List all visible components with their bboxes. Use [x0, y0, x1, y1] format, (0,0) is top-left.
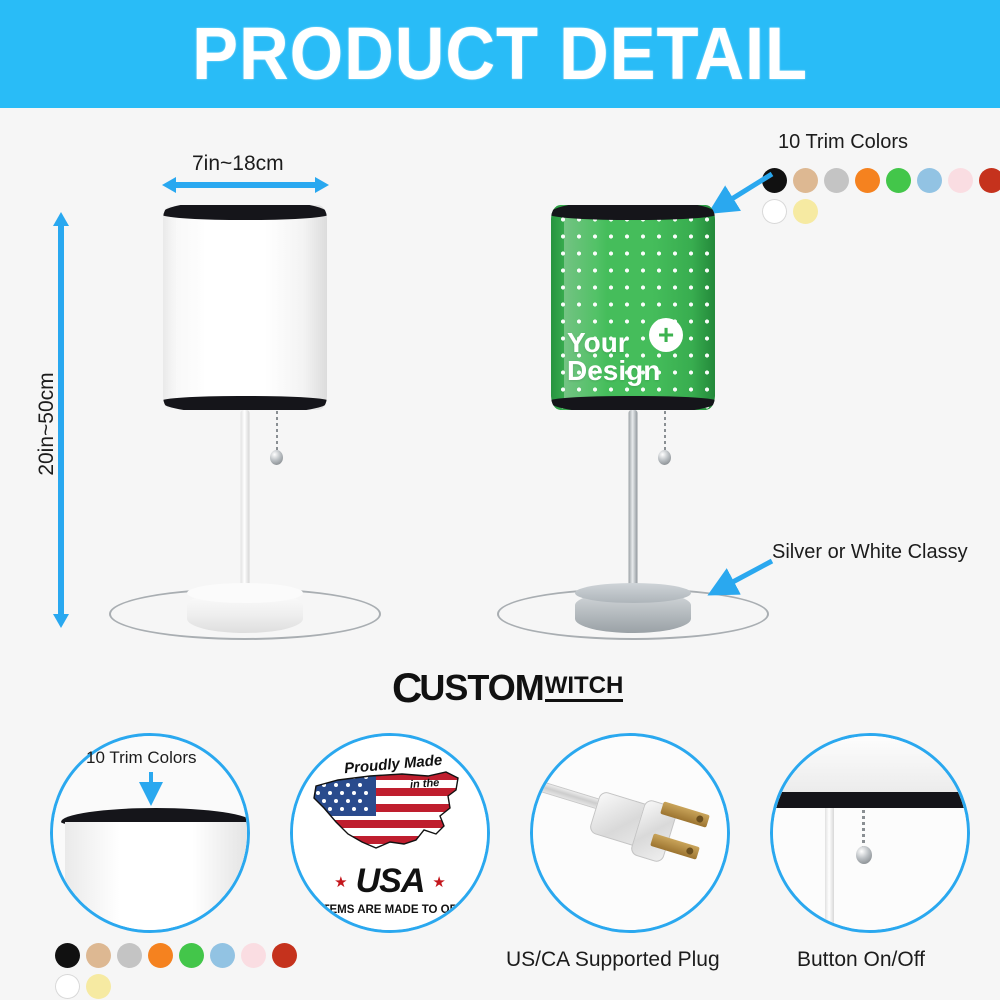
trim-swatch-white[interactable] [55, 974, 80, 999]
prong-hole [695, 815, 704, 824]
trim-ring-closeup [773, 792, 967, 808]
trim-swatch-red[interactable] [979, 168, 1000, 193]
pull-chain-bead[interactable] [658, 450, 671, 465]
width-dimension-label: 7in~18cm [192, 152, 284, 176]
add-design-plus-icon[interactable]: + [649, 318, 683, 352]
logo-c-mark: C [392, 667, 419, 709]
trim-swatch-pink[interactable] [241, 943, 266, 968]
brand-logo: C USTOM WITCH [392, 667, 623, 709]
product-detail-infographic: PRODUCT DETAIL 10 Trim Colors 7in~18cm 2… [0, 0, 1000, 1000]
trim-color-swatches-bottom[interactable] [55, 943, 313, 999]
lamp-base-top [575, 583, 691, 603]
usa-line-2: in the [409, 777, 439, 791]
page-title: PRODUCT DETAIL [192, 17, 808, 91]
trim-swatch-light-blue[interactable] [917, 168, 942, 193]
feature-made-in-usa-circle: Proudly Made in the ★ USA ★ ALL ITEMS AR… [290, 733, 490, 933]
logo-custom-text: USTOM [419, 670, 543, 706]
trim-swatch-yellow[interactable] [793, 199, 818, 224]
prong-hole [685, 847, 694, 856]
lamp-stem-closeup [825, 808, 834, 930]
trim-swatch-pink[interactable] [948, 168, 973, 193]
usa-badge: Proudly Made in the ★ USA ★ ALL ITEMS AR… [293, 736, 487, 930]
trim-swatch-tan[interactable] [86, 943, 111, 968]
trim-swatch-green[interactable] [179, 943, 204, 968]
trim-ring-bottom [163, 396, 327, 410]
trim-color-swatches-top[interactable] [762, 168, 1000, 224]
pull-chain[interactable] [276, 411, 278, 453]
design-line-2: Design [567, 357, 660, 386]
feature-switch-circle [770, 733, 970, 933]
star-right-icon: ★ [432, 873, 445, 891]
logo-witch-text: WITCH [545, 674, 624, 702]
star-left-icon: ★ [334, 873, 347, 891]
shade-closeup [773, 736, 967, 794]
pull-chain-bead-closeup[interactable] [856, 846, 872, 864]
lamp-green-custom: Your Design + [551, 205, 715, 410]
your-design-text: Your Design [567, 329, 660, 386]
pull-chain-closeup[interactable] [862, 810, 865, 850]
pull-chain-bead[interactable] [270, 450, 283, 465]
shade-surface [163, 205, 327, 410]
plug-caption: US/CA Supported Plug [506, 948, 720, 972]
design-line-1: Your [567, 329, 660, 358]
usa-line-4: ALL ITEMS ARE MADE TO ORDER! [294, 904, 486, 916]
trim-swatch-yellow[interactable] [86, 974, 111, 999]
lamp-shade-white [163, 205, 327, 410]
feature-plug-circle [530, 733, 730, 933]
trim-ring-top [551, 205, 715, 220]
base-pointer-arrow [700, 556, 780, 606]
base-finish-label: Silver or White Classy [772, 541, 968, 564]
trim-swatch-orange[interactable] [148, 943, 173, 968]
trim-swatch-black[interactable] [55, 943, 80, 968]
lamp-shade-green: Your Design + [551, 205, 715, 410]
switch-caption: Button On/Off [797, 948, 925, 972]
trim-swatch-gray[interactable] [117, 943, 142, 968]
trim-colors-circle-label: 10 Trim Colors [86, 748, 197, 768]
lamp-white [163, 205, 327, 410]
trim-swatch-orange[interactable] [855, 168, 880, 193]
trim-swatch-red[interactable] [272, 943, 297, 968]
header-banner: PRODUCT DETAIL [0, 0, 1000, 108]
trim-ring-bottom [551, 396, 715, 410]
height-dimension-label: 20in~50cm [35, 354, 59, 494]
trim-swatch-tan[interactable] [793, 168, 818, 193]
trim-ring-top [163, 205, 327, 220]
trim-colors-down-arrow [139, 770, 163, 812]
pull-chain[interactable] [664, 411, 666, 453]
shade-closeup [65, 822, 247, 930]
lamp-base-top [187, 583, 303, 603]
usa-map-flag-icon [298, 764, 483, 864]
trim-swatch-light-blue[interactable] [210, 943, 235, 968]
width-dimension-arrow [175, 182, 316, 188]
trim-colors-heading: 10 Trim Colors [778, 131, 908, 154]
trim-swatch-green[interactable] [886, 168, 911, 193]
trim-swatch-gray[interactable] [824, 168, 849, 193]
